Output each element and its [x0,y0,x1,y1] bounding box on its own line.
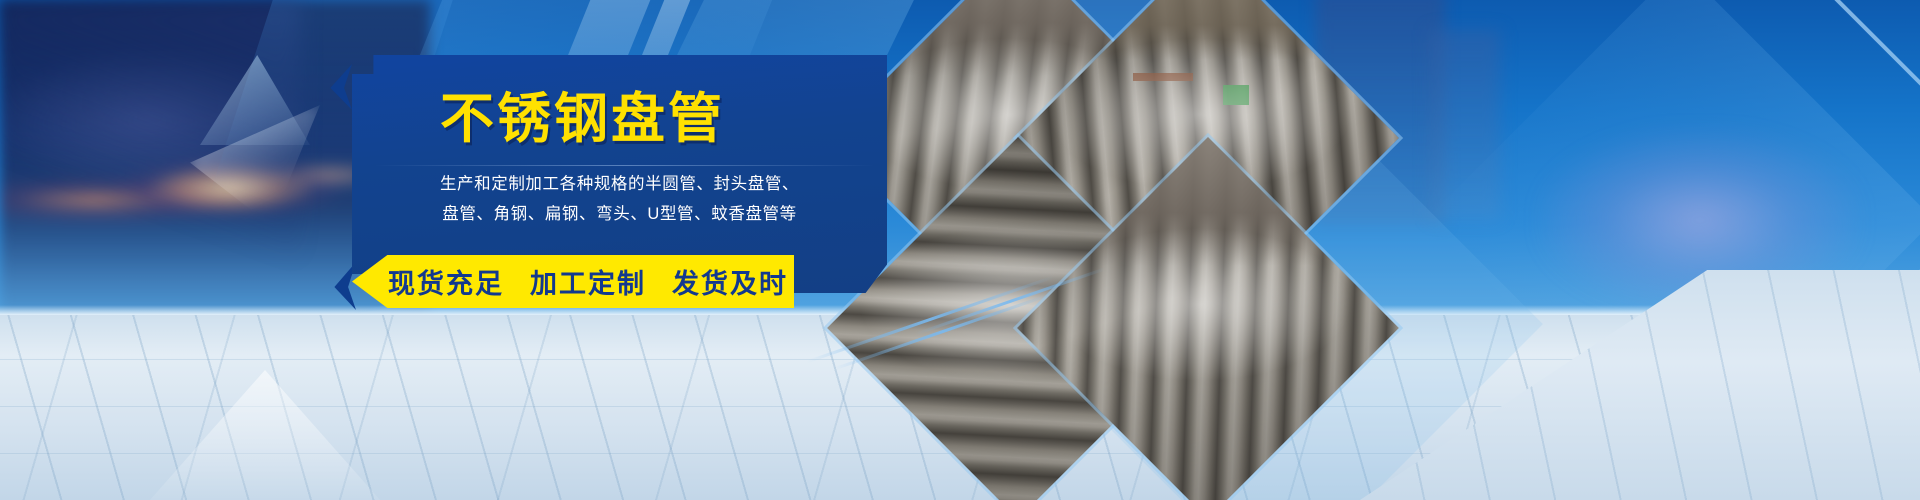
subtitle-line-2: 盘管、角钢、扁钢、弯头、U型管、蚊香盘管等 [352,200,887,224]
page-title: 不锈钢盘管 [440,92,860,146]
highlight-item-2: 加工定制 [530,262,646,301]
product-hero-banner: 不锈钢盘管 生产和定制加工各种规格的半圆管、封头盘管、 盘管、角钢、扁钢、弯头、… [0,0,1920,500]
product-photo-collage [845,0,1505,500]
subtitle-line-1: 生产和定制加工各种规格的半圆管、封头盘管、 [352,170,887,194]
highlights-tag-text: 现货充足 加工定制 发货及时 [352,255,794,308]
ribbon-divider-line [374,165,874,166]
highlight-item-3: 发货及时 [672,262,788,301]
highlight-item-1: 现货充足 [388,262,504,301]
